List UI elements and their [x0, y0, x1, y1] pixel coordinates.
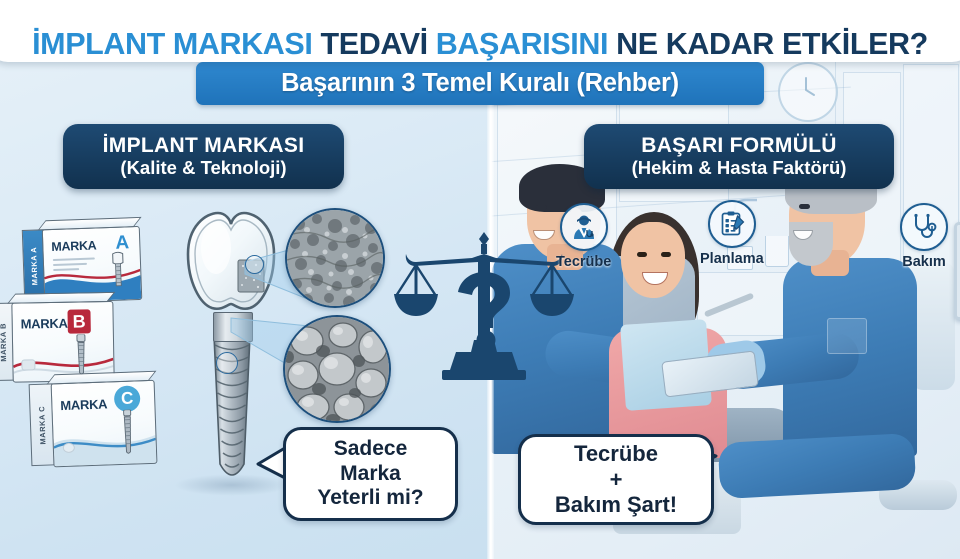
section-badge-implant-brand: İMPLANT MARKASI (Kalite & Teknoloji) [63, 124, 344, 189]
surface-texture-rough-circle [285, 208, 385, 308]
chip-bakim-label: Bakım [902, 254, 946, 270]
question-speech-bubble-text: Sadece Marka Yeterli mi? [317, 437, 423, 511]
doctor-person-icon [560, 203, 608, 251]
clinic-equipment-arm [911, 262, 955, 390]
marka-box-c-implant-icon [119, 409, 138, 456]
dentist-right-beard [789, 222, 833, 266]
marka-box-b: MARKA B MARKA B [0, 301, 113, 381]
title-segment-4: NE KADAR ETKİLER? [616, 27, 928, 61]
title-card: İMPLANT MARKASI TEDAVİ BAŞARISINI NE KAD… [0, 0, 960, 62]
implant-surface-marker-crown [245, 255, 264, 274]
patient-eye-right [661, 252, 671, 257]
marka-box-c-title: MARKA [60, 396, 107, 413]
title-segment-2: TEDAVİ [321, 27, 428, 61]
chip-planlama-label: Planlama [700, 251, 764, 267]
chip-bakim[interactable]: Bakım [900, 203, 948, 270]
section-badge-success-formula-subtitle: (Hekim & Hasta Faktörü) [632, 158, 847, 179]
surface-texture-granular-circle [283, 315, 391, 423]
section-badge-success-formula: BAŞARI FORMÜLÜ (Hekim & Hasta Faktörü) [584, 124, 894, 189]
answer-speech-bubble: Tecrübe + Bakım Şart! [518, 434, 714, 525]
wall-clock-icon [778, 62, 838, 122]
marka-box-b-letter: B [67, 309, 90, 333]
answer-speech-bubble-text: Tecrübe + Bakım Şart! [555, 441, 677, 518]
marka-box-a-implant-icon [110, 251, 127, 292]
marka-box-b-spine-label: MARKA B [0, 322, 8, 361]
title-segment-3: BAŞARISINI [436, 27, 608, 61]
page-title: İMPLANT MARKASI TEDAVİ BAŞARISINI NE KAD… [32, 29, 928, 60]
implant-surface-marker-screw [216, 352, 238, 374]
marka-box-b-badge-dot [21, 359, 35, 373]
subtitle-text: Başarının 3 Temel Kuralı (Rehber) [281, 69, 679, 98]
chip-tecrube-label: Tecrübe [556, 254, 611, 270]
section-badge-implant-brand-subtitle: (Kalite & Teknoloji) [120, 158, 286, 179]
marka-box-a: MARKA A MARKA A [22, 226, 140, 302]
dentist-left-eye [536, 205, 547, 210]
infographic-canvas: MARKA A MARKA A [0, 0, 960, 559]
dentist-right-eye [799, 204, 810, 209]
marka-box-c-letter: C [114, 385, 141, 412]
subtitle-ribbon: Başarının 3 Temel Kuralı (Rehber) [196, 62, 764, 105]
marka-box-c-face: MARKA C [51, 380, 158, 468]
marka-box-c-spine-label: MARKA C [37, 405, 47, 444]
dentist-right-pocket [827, 318, 867, 354]
stethoscope-icon [900, 203, 948, 251]
chip-tecrube[interactable]: Tecrübe [556, 203, 611, 270]
title-segment-1: İMPLANT MARKASI [32, 27, 312, 61]
marka-box-b-implant-icon [72, 334, 91, 376]
balance-scale-with-question-mark [394, 232, 574, 388]
marka-box-c: MARKA C MARKA C [29, 380, 156, 466]
section-badge-success-formula-title: BAŞARI FORMÜLÜ [641, 134, 837, 158]
panoramic-xray-monitor [954, 222, 960, 320]
patient-face-front [625, 228, 683, 298]
marka-box-b-title: MARKA [21, 316, 68, 332]
clipboard-checklist-icon [708, 200, 756, 248]
marka-box-a-spine-label: MARKA A [29, 246, 39, 285]
dental-probe-tool [704, 292, 754, 317]
dentist-right-leg [718, 433, 917, 499]
marka-box-b-face: MARKA B [11, 301, 114, 383]
marka-box-b-top [7, 292, 115, 304]
question-speech-bubble: Sadece Marka Yeterli mi? [283, 427, 458, 521]
marka-box-a-title: MARKA [51, 238, 96, 254]
patient-eye-left [637, 252, 647, 257]
marka-box-c-dot [63, 443, 75, 456]
chip-planlama[interactable]: Planlama [700, 200, 764, 267]
section-badge-implant-brand-title: İMPLANT MARKASI [103, 134, 305, 158]
